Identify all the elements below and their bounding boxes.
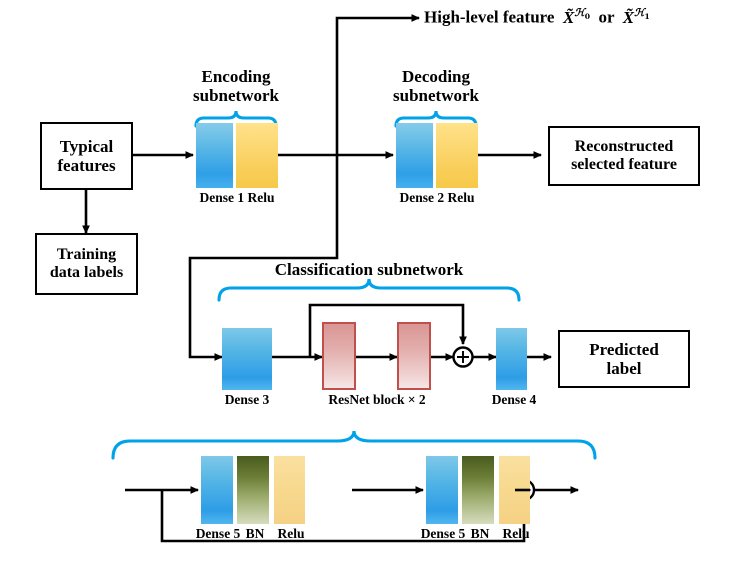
decoding-subnetwork-heading: Decoding subnetwork — [376, 68, 496, 105]
relu-b-label: Relu — [498, 526, 534, 542]
symbol-x-tilde-h0: X̃ℋ0 — [563, 8, 590, 27]
predicted-label-box[interactable]: Predicted label — [558, 330, 690, 388]
dense4-label: Dense 4 — [478, 392, 550, 408]
relu-b-bar[interactable] — [499, 456, 530, 524]
encoding-subnetwork-heading: Encoding subnetwork — [176, 68, 296, 105]
training-data-labels-box[interactable]: Training data labels — [35, 233, 138, 295]
symbol-x-tilde-h1: X̃ℋ1 — [623, 8, 650, 27]
high-level-feature-text: High-level feature — [424, 8, 554, 27]
bn-a-label: BN — [240, 526, 270, 542]
relu2-bar[interactable] — [436, 123, 478, 188]
reconstructed-feature-box[interactable]: Reconstructed selected feature — [548, 126, 700, 186]
dense1-relu-label: Dense 1 Relu — [186, 190, 288, 206]
classification-subnetwork-heading: Classification subnetwork — [249, 261, 489, 280]
resnet-block-2[interactable] — [397, 322, 431, 390]
brace-resnet-detail — [113, 431, 595, 458]
classification-heading-text: Classification subnetwork — [275, 260, 463, 279]
typical-features-line1: Typical — [60, 137, 114, 156]
reconstructed-line2: selected feature — [571, 156, 677, 173]
dense3-label: Dense 3 — [207, 392, 287, 408]
sub-0: 0 — [585, 12, 590, 21]
dense5b-bar[interactable] — [426, 456, 458, 524]
reconstructed-line1: Reconstructed — [575, 138, 674, 155]
dense5a-bar[interactable] — [201, 456, 233, 524]
encoding-line1: Encoding — [202, 67, 271, 86]
dense5b-label: Dense 5 — [415, 526, 471, 542]
relu1-bar[interactable] — [236, 123, 278, 188]
dense2-relu-label: Dense 2 Relu — [386, 190, 488, 206]
sub-1: 1 — [645, 12, 650, 21]
conjunction-or: or — [599, 8, 615, 27]
decoding-line1: Decoding — [402, 67, 470, 86]
predicted-line1: Predicted — [589, 340, 659, 359]
dense3-bar[interactable] — [222, 328, 272, 390]
training-labels-line2: data labels — [50, 264, 123, 281]
relu-a-bar[interactable] — [274, 456, 305, 524]
typical-features-box[interactable]: Typical features — [40, 122, 133, 190]
high-level-feature-label: High-level feature X̃ℋ0 or X̃ℋ1 — [424, 7, 650, 28]
dense5a-label: Dense 5 — [190, 526, 246, 542]
sup-h1: ℋ — [634, 7, 644, 19]
training-labels-line1: Training — [57, 246, 116, 263]
sup-h0: ℋ — [574, 7, 584, 19]
relu-a-label: Relu — [273, 526, 309, 542]
decoding-line2: subnetwork — [393, 86, 479, 105]
resnet-block-1[interactable] — [322, 322, 356, 390]
encoding-line2: subnetwork — [193, 86, 279, 105]
predicted-line2: label — [607, 359, 642, 378]
bn-b-label: BN — [465, 526, 495, 542]
dense1-bar[interactable] — [196, 123, 233, 188]
resnet-block-label: ResNet block × 2 — [306, 392, 448, 408]
dense2-bar[interactable] — [396, 123, 433, 188]
typical-features-line2: features — [57, 156, 115, 175]
brace-classification — [219, 279, 519, 300]
dense4-bar[interactable] — [496, 328, 527, 390]
bn-a-bar[interactable] — [237, 456, 269, 524]
diagram-canvas: Typical features Training data labels Re… — [0, 0, 732, 561]
bn-b-bar[interactable] — [462, 456, 494, 524]
sum-node-classification — [454, 348, 473, 367]
